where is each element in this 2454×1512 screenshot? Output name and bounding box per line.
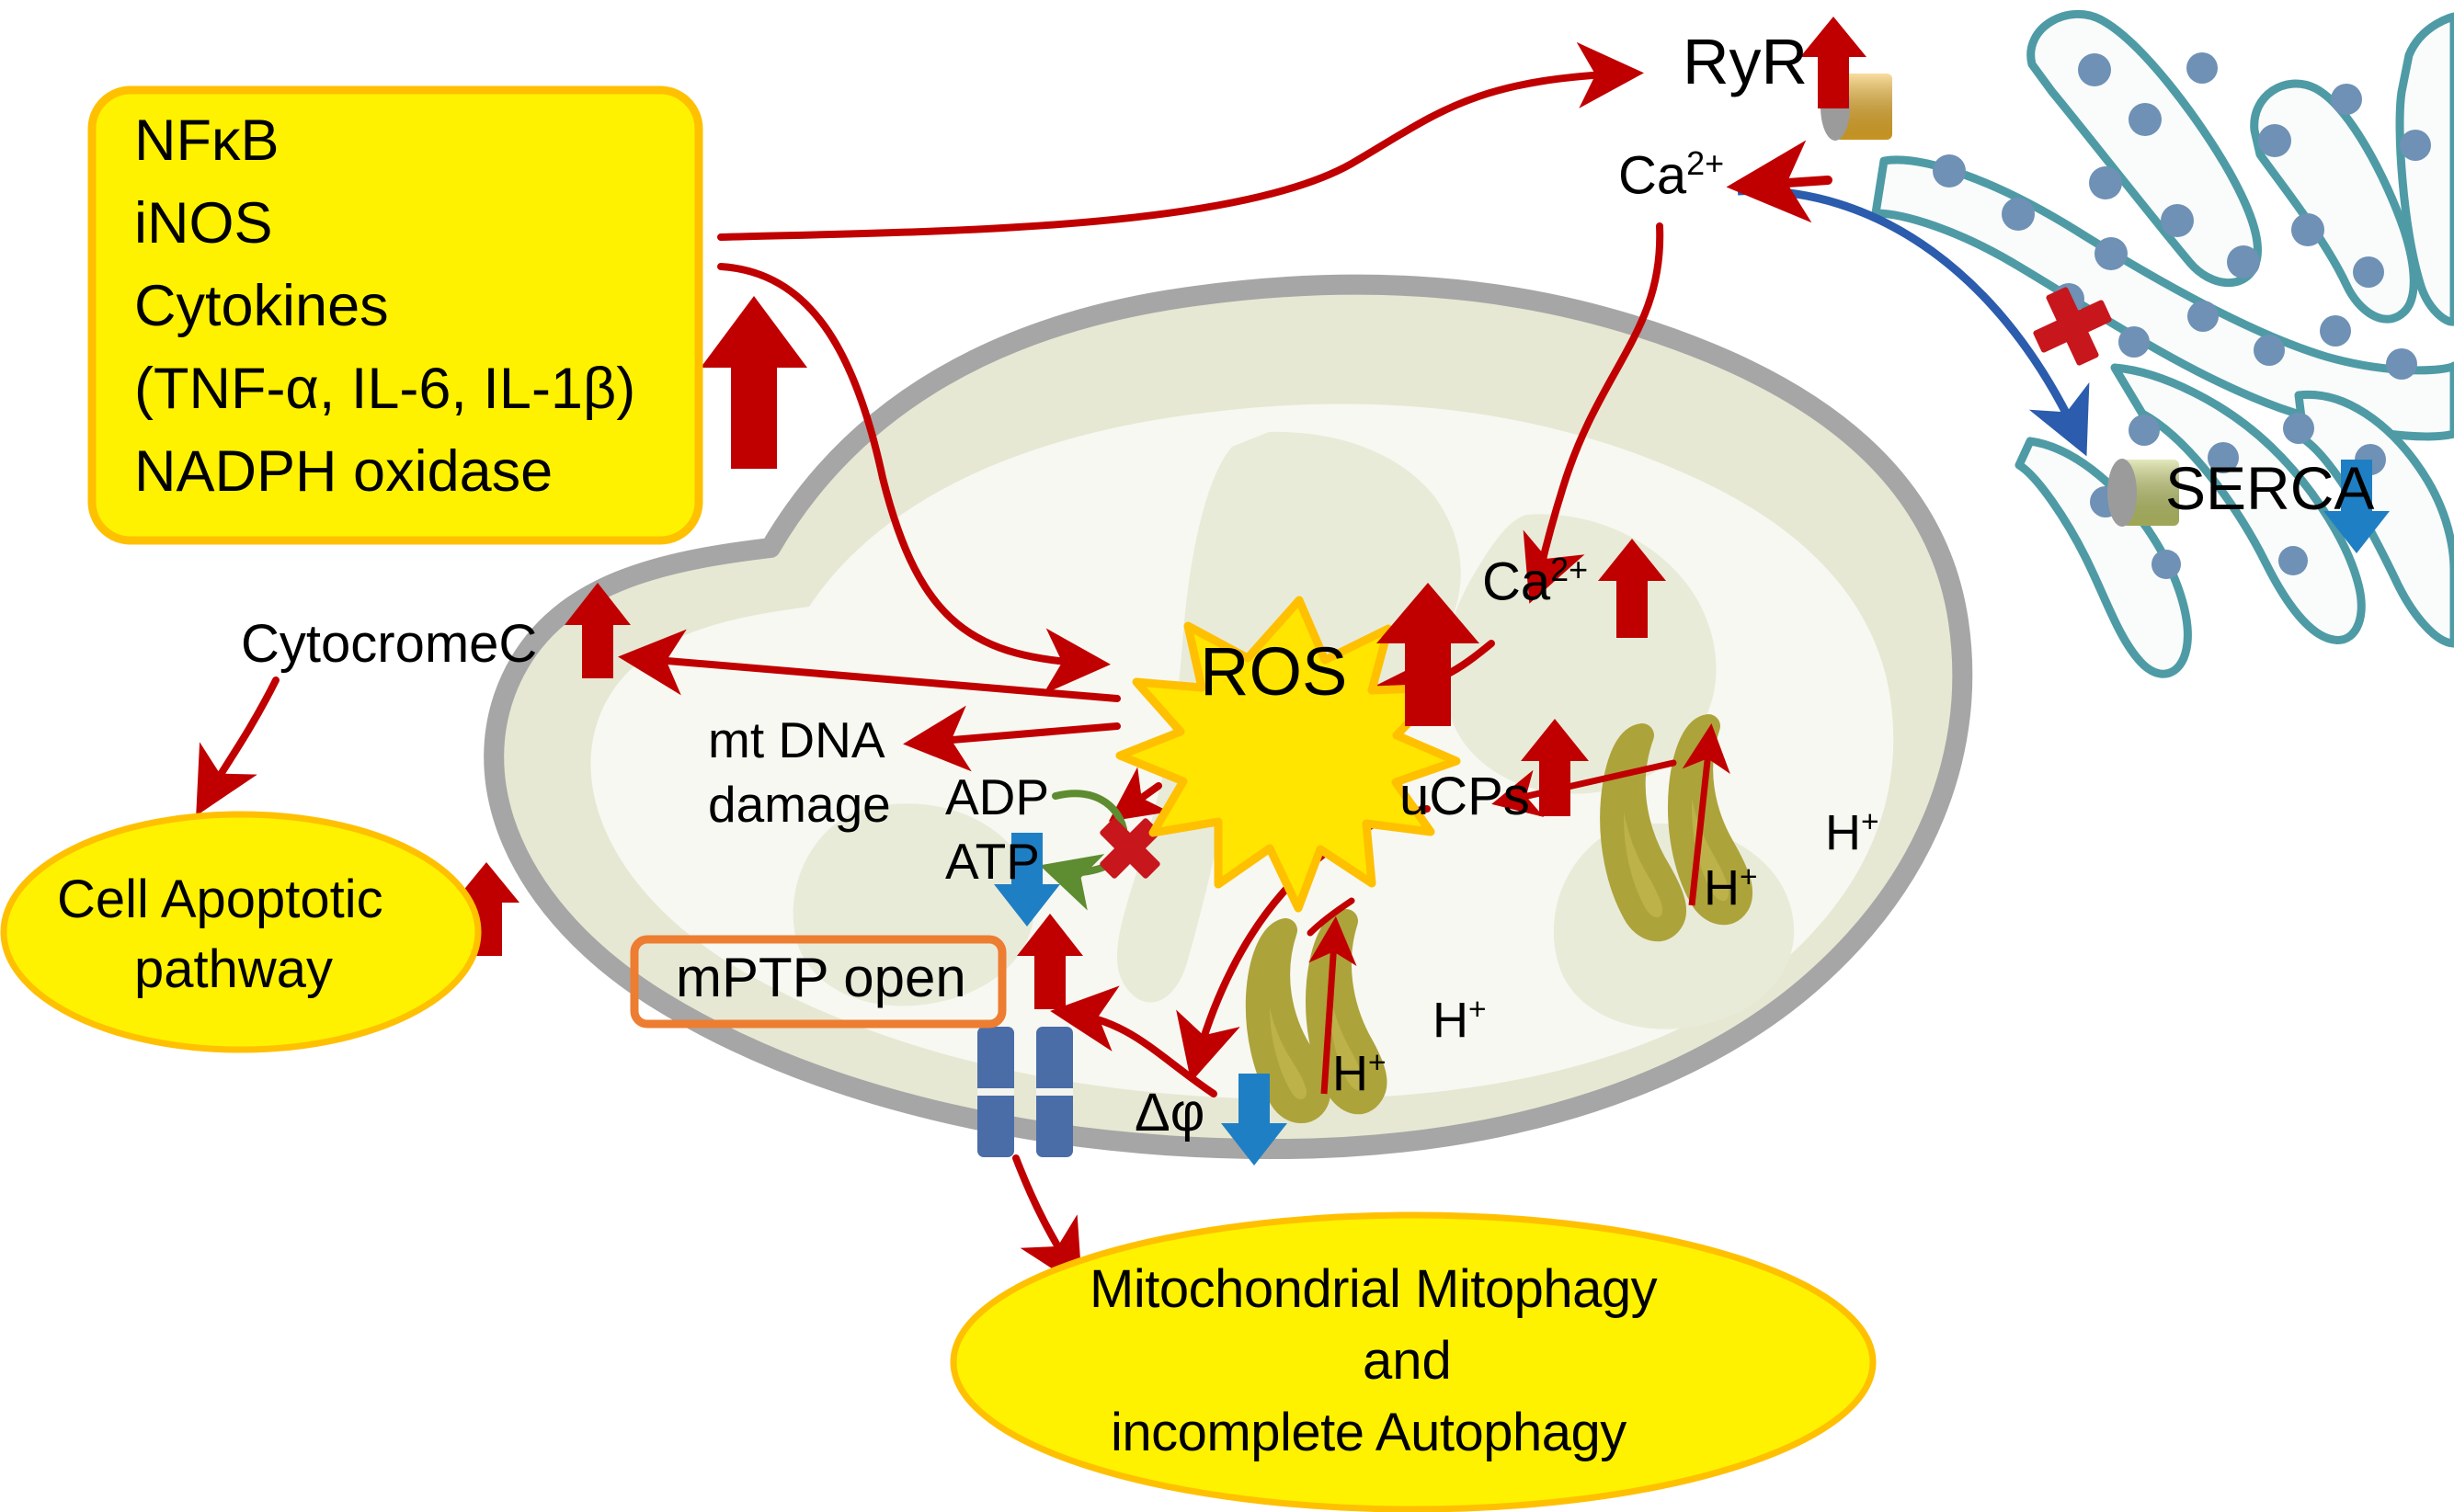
atp-label: ATP [945, 836, 1040, 887]
ca-cytosol-label: Ca2+ [1618, 147, 1724, 202]
inflammation-up-arrow [701, 296, 807, 469]
proton-label-4: H+ [1825, 807, 1879, 858]
mitophagy-line2: and [1363, 1335, 1452, 1388]
proton-4-sup: + [1861, 805, 1879, 839]
proton-4-text: H [1825, 805, 1861, 860]
serca-label: SERCA [2165, 458, 2374, 518]
inflammation-line-nfkb: NFκB [134, 112, 280, 170]
proton-1-sup: + [1368, 1046, 1387, 1080]
ryr-label: RyR [1683, 29, 1808, 94]
inflammation-line-nadph: NADPH oxidase [134, 443, 553, 501]
ca-cytosol-text: Ca [1618, 145, 1686, 205]
adp-label: ADP [945, 772, 1049, 823]
proton-3-sup: + [1740, 860, 1758, 894]
apoptosis-line1: Cell Apoptotic [57, 873, 383, 927]
cell-apoptotic-pathway-ellipse[interactable] [4, 814, 478, 1050]
proton-label-3: H+ [1704, 862, 1758, 913]
ca-mito-label: Ca2+ [1482, 553, 1588, 608]
proton-1-text: H [1332, 1046, 1368, 1101]
proton-2-text: H [1432, 993, 1468, 1048]
ucps-label: uCPs [1399, 770, 1530, 824]
inflammation-line-cytokines: Cytokines [134, 278, 389, 335]
proton-label-1: H+ [1332, 1048, 1387, 1098]
mitophagy-line1: Mitochondrial Mitophagy [1090, 1263, 1657, 1316]
mitophagy-line3: incomplete Autophagy [1111, 1406, 1626, 1460]
inflammation-line-inos: iNOS [134, 195, 273, 253]
diagram-canvas: NFκB iNOS Cytokines (TNF-α, IL-6, IL-1β)… [0, 0, 2454, 1512]
inflammation-line-cytokine-list: (TNF-α, IL-6, IL-1β) [134, 360, 635, 418]
cytochromec-label: CytocromeC [241, 618, 537, 671]
apoptosis-line2: pathway [134, 943, 333, 996]
proton-2-sup: + [1468, 993, 1487, 1027]
ros-label: ROS [1200, 638, 1347, 706]
ca-mito-sup: 2+ [1550, 551, 1588, 588]
mptp-open-label: mPTP open [676, 950, 966, 1006]
mtdna-damage-line2: damage [708, 779, 891, 830]
sarcoplasmic-reticulum [1876, 14, 2454, 674]
proton-3-text: H [1704, 860, 1740, 915]
proton-label-2: H+ [1432, 995, 1487, 1045]
deltapsi-label: Δφ [1135, 1086, 1204, 1140]
ca-cytosol-sup: 2+ [1686, 144, 1724, 182]
mtdna-damage-line1: mt DNA [708, 715, 885, 766]
ca-mito-text: Ca [1482, 551, 1550, 611]
